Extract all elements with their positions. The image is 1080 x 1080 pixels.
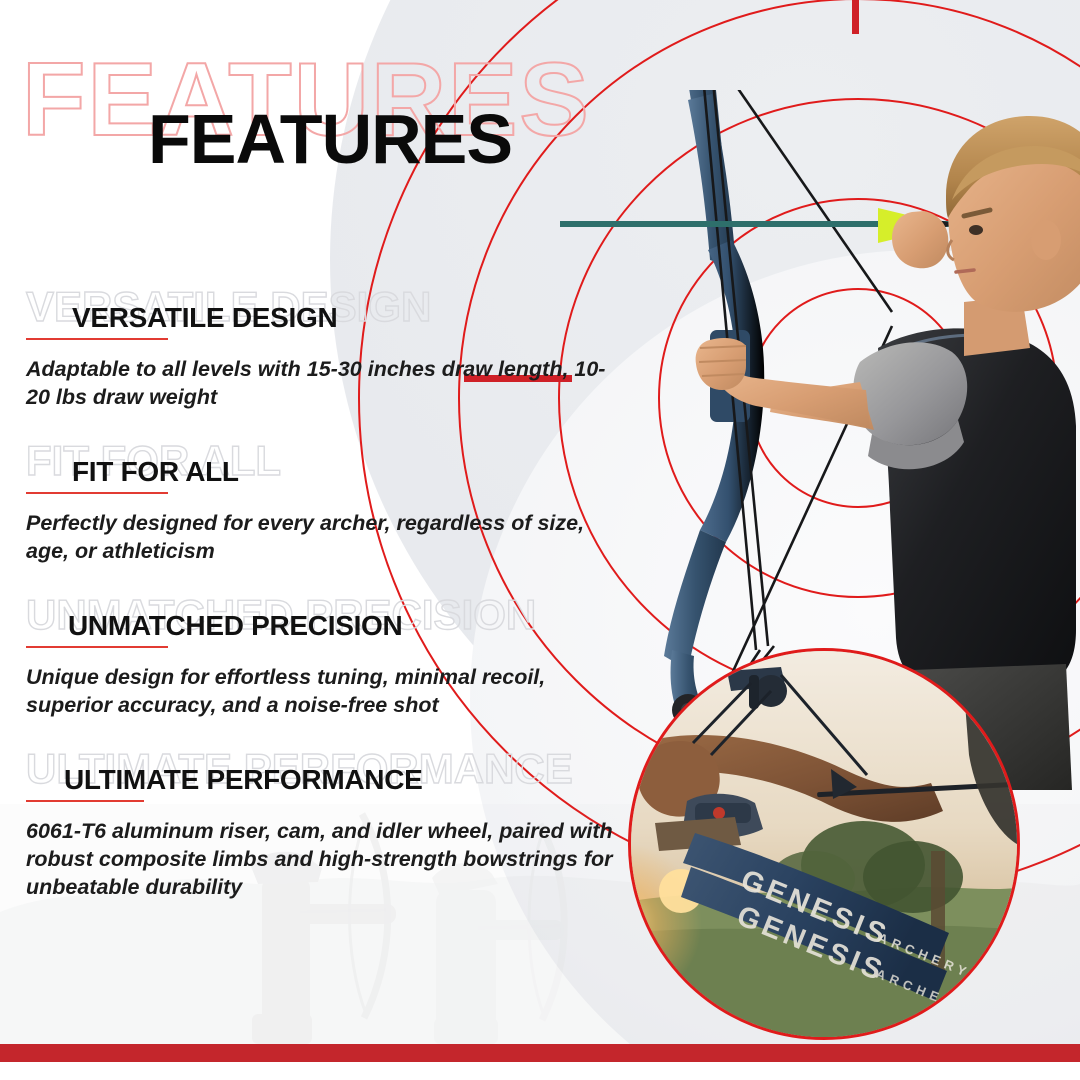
feature-underline — [26, 646, 168, 648]
feature-description: Adaptable to all levels with 15-30 inche… — [26, 356, 626, 412]
feature-heading-group: UNMATCHED PRECISION UNMATCHED PRECISION — [0, 594, 640, 648]
feature-heading-group: FIT FOR ALL FIT FOR ALL — [0, 440, 640, 494]
bottom-accent-bar — [0, 1044, 1080, 1062]
feature-heading-group: VERSATILE DESIGN VERSATILE DESIGN — [0, 286, 640, 340]
feature-heading-group: ULTIMATE PERFORMANCE ULTIMATE PERFORMANC… — [0, 748, 640, 802]
feature-item: UNMATCHED PRECISION UNMATCHED PRECISION … — [0, 594, 640, 720]
feature-description: Unique design for effortless tuning, min… — [26, 664, 626, 720]
features-list: VERSATILE DESIGN VERSATILE DESIGN Adapta… — [0, 286, 640, 929]
feature-item: FIT FOR ALL FIT FOR ALL Perfectly design… — [0, 440, 640, 566]
page-title: FEATURES — [148, 104, 512, 174]
feature-title: UNMATCHED PRECISION — [68, 612, 402, 640]
feature-item: VERSATILE DESIGN VERSATILE DESIGN Adapta… — [0, 286, 640, 412]
feature-underline — [26, 492, 168, 494]
feature-item: ULTIMATE PERFORMANCE ULTIMATE PERFORMANC… — [0, 748, 640, 902]
feature-title: VERSATILE DESIGN — [72, 304, 337, 332]
feature-description: Perfectly designed for every archer, reg… — [26, 510, 626, 566]
feature-underline — [26, 338, 168, 340]
feature-underline — [26, 800, 144, 802]
feature-title: FIT FOR ALL — [72, 458, 239, 486]
feature-description: 6061-T6 aluminum riser, cam, and idler w… — [26, 818, 626, 902]
target-tick-top — [852, 0, 859, 34]
inset-closeup-photo: GENESIS ARCHERY GENESIS ARCHERY — [628, 648, 1020, 1040]
feature-title: ULTIMATE PERFORMANCE — [64, 766, 423, 794]
page-headline: FEATURES FEATURES — [0, 48, 760, 188]
poster-canvas: GENESIS ARCHERY GENESIS ARCHERY FEATURES… — [0, 0, 1080, 1080]
